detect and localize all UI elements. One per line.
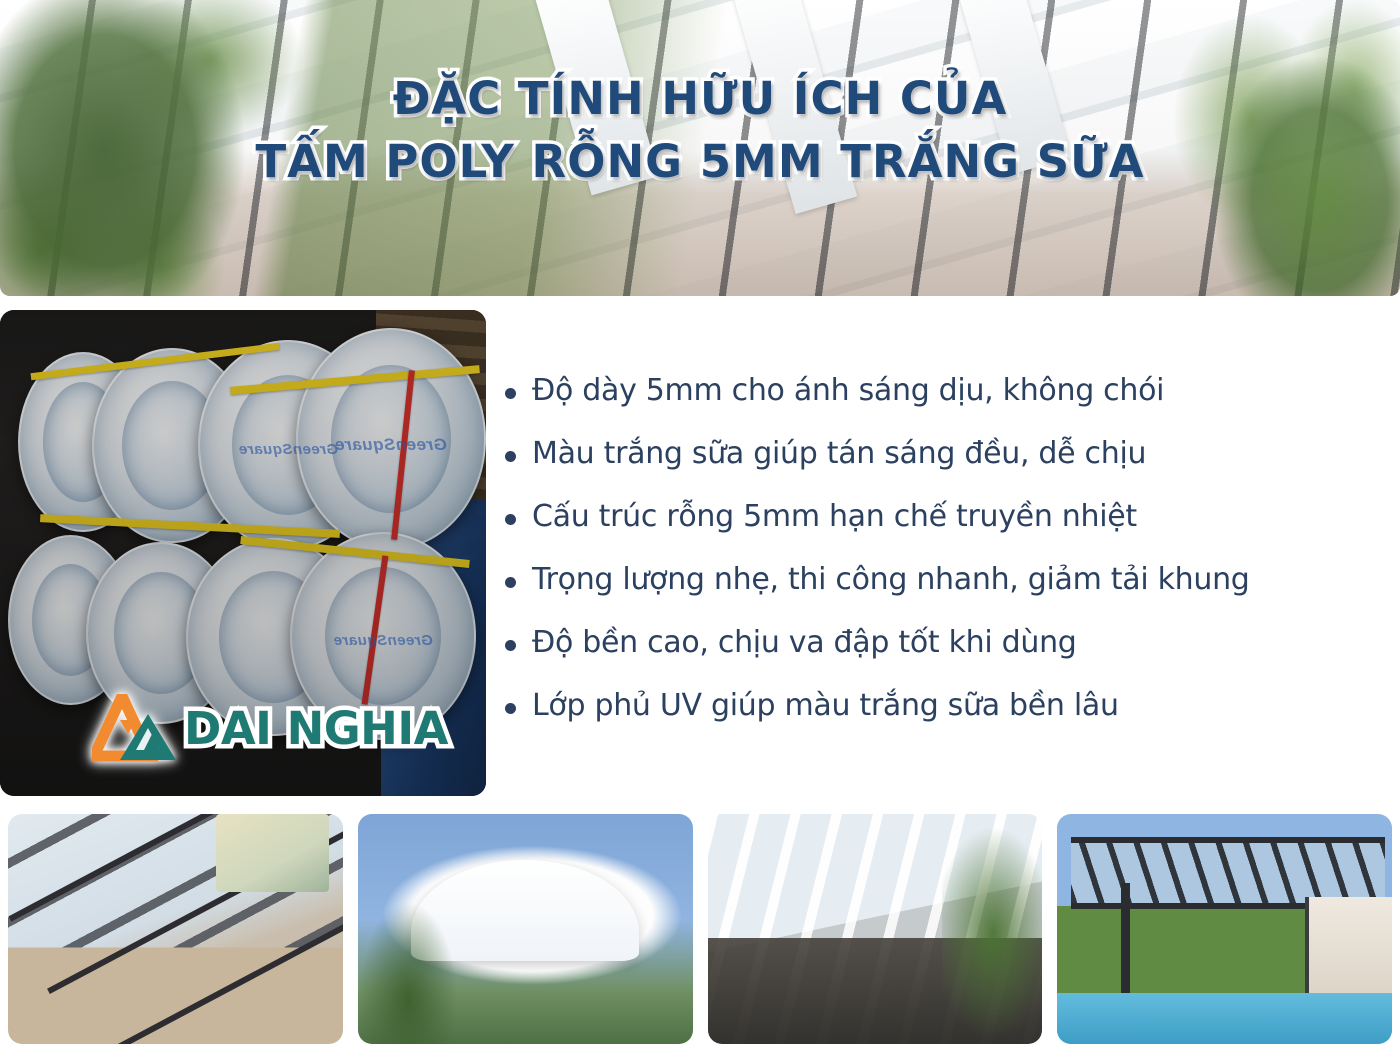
bullet-icon [505,514,516,525]
dai-nghia-logo: DAI NGHIA [92,694,448,762]
dai-nghia-triangle-mark [92,694,178,762]
pergola-post [1121,883,1130,993]
bullet-icon [505,640,516,651]
dai-nghia-logo-text: DAI NGHIA [184,706,448,751]
list-item: Độ dày 5mm cho ánh sáng dịu, không chói [505,372,1390,435]
gallery-thumbnail-2 [358,814,693,1044]
bullet-icon [505,451,516,462]
gallery-thumbnail-4 [1057,814,1392,1044]
list-item: Trọng lượng nhẹ, thi công nhanh, giảm tả… [505,561,1390,624]
roll-brand-text: GreenSquare [309,435,473,455]
bullet-icon [505,577,516,588]
bullet-icon [505,388,516,399]
gallery-thumbnail-3 [708,814,1043,1044]
feature-text: Trọng lượng nhẹ, thi công nhanh, giảm tả… [532,561,1250,599]
feature-text: Độ dày 5mm cho ánh sáng dịu, không chói [532,372,1164,410]
product-photo: GreenSquare GreenSquare GreenSquare DAI … [0,310,486,796]
roll-brand-text: GreenSquare [303,632,463,649]
feature-text: Cấu trúc rỗng 5mm hạn chế truyền nhiệt [532,498,1137,536]
feature-text: Lớp phủ UV giúp màu trắng sữa bền lâu [532,687,1119,725]
feature-text: Màu trắng sữa giúp tán sáng đều, dễ chịu [532,435,1146,473]
gallery-strip [8,814,1392,1044]
list-item: Độ bền cao, chịu va đập tốt khi dùng [505,624,1390,687]
page-title: ĐẶC TÍNH HỮU ÍCH CỦA TẤM POLY RỖNG 5MM T… [0,72,1400,190]
bullet-icon [505,703,516,714]
house-wall [1305,897,1392,994]
title-line-1: ĐẶC TÍNH HỮU ÍCH CỦA [0,72,1400,127]
features-list: Độ dày 5mm cho ánh sáng dịu, không chói … [505,372,1390,750]
title-line-2: TẤM POLY RỖNG 5MM TRẮNG SỮA [0,135,1400,190]
header-banner: ĐẶC TÍNH HỮU ÍCH CỦA TẤM POLY RỖNG 5MM T… [0,0,1400,296]
feature-text: Độ bền cao, chịu va đập tốt khi dùng [532,624,1077,662]
gallery-thumbnail-1 [8,814,343,1044]
list-item: Màu trắng sữa giúp tán sáng đều, dễ chịu [505,435,1390,498]
list-item: Lớp phủ UV giúp màu trắng sữa bền lâu [505,687,1390,750]
list-item: Cấu trúc rỗng 5mm hạn chế truyền nhiệt [505,498,1390,561]
